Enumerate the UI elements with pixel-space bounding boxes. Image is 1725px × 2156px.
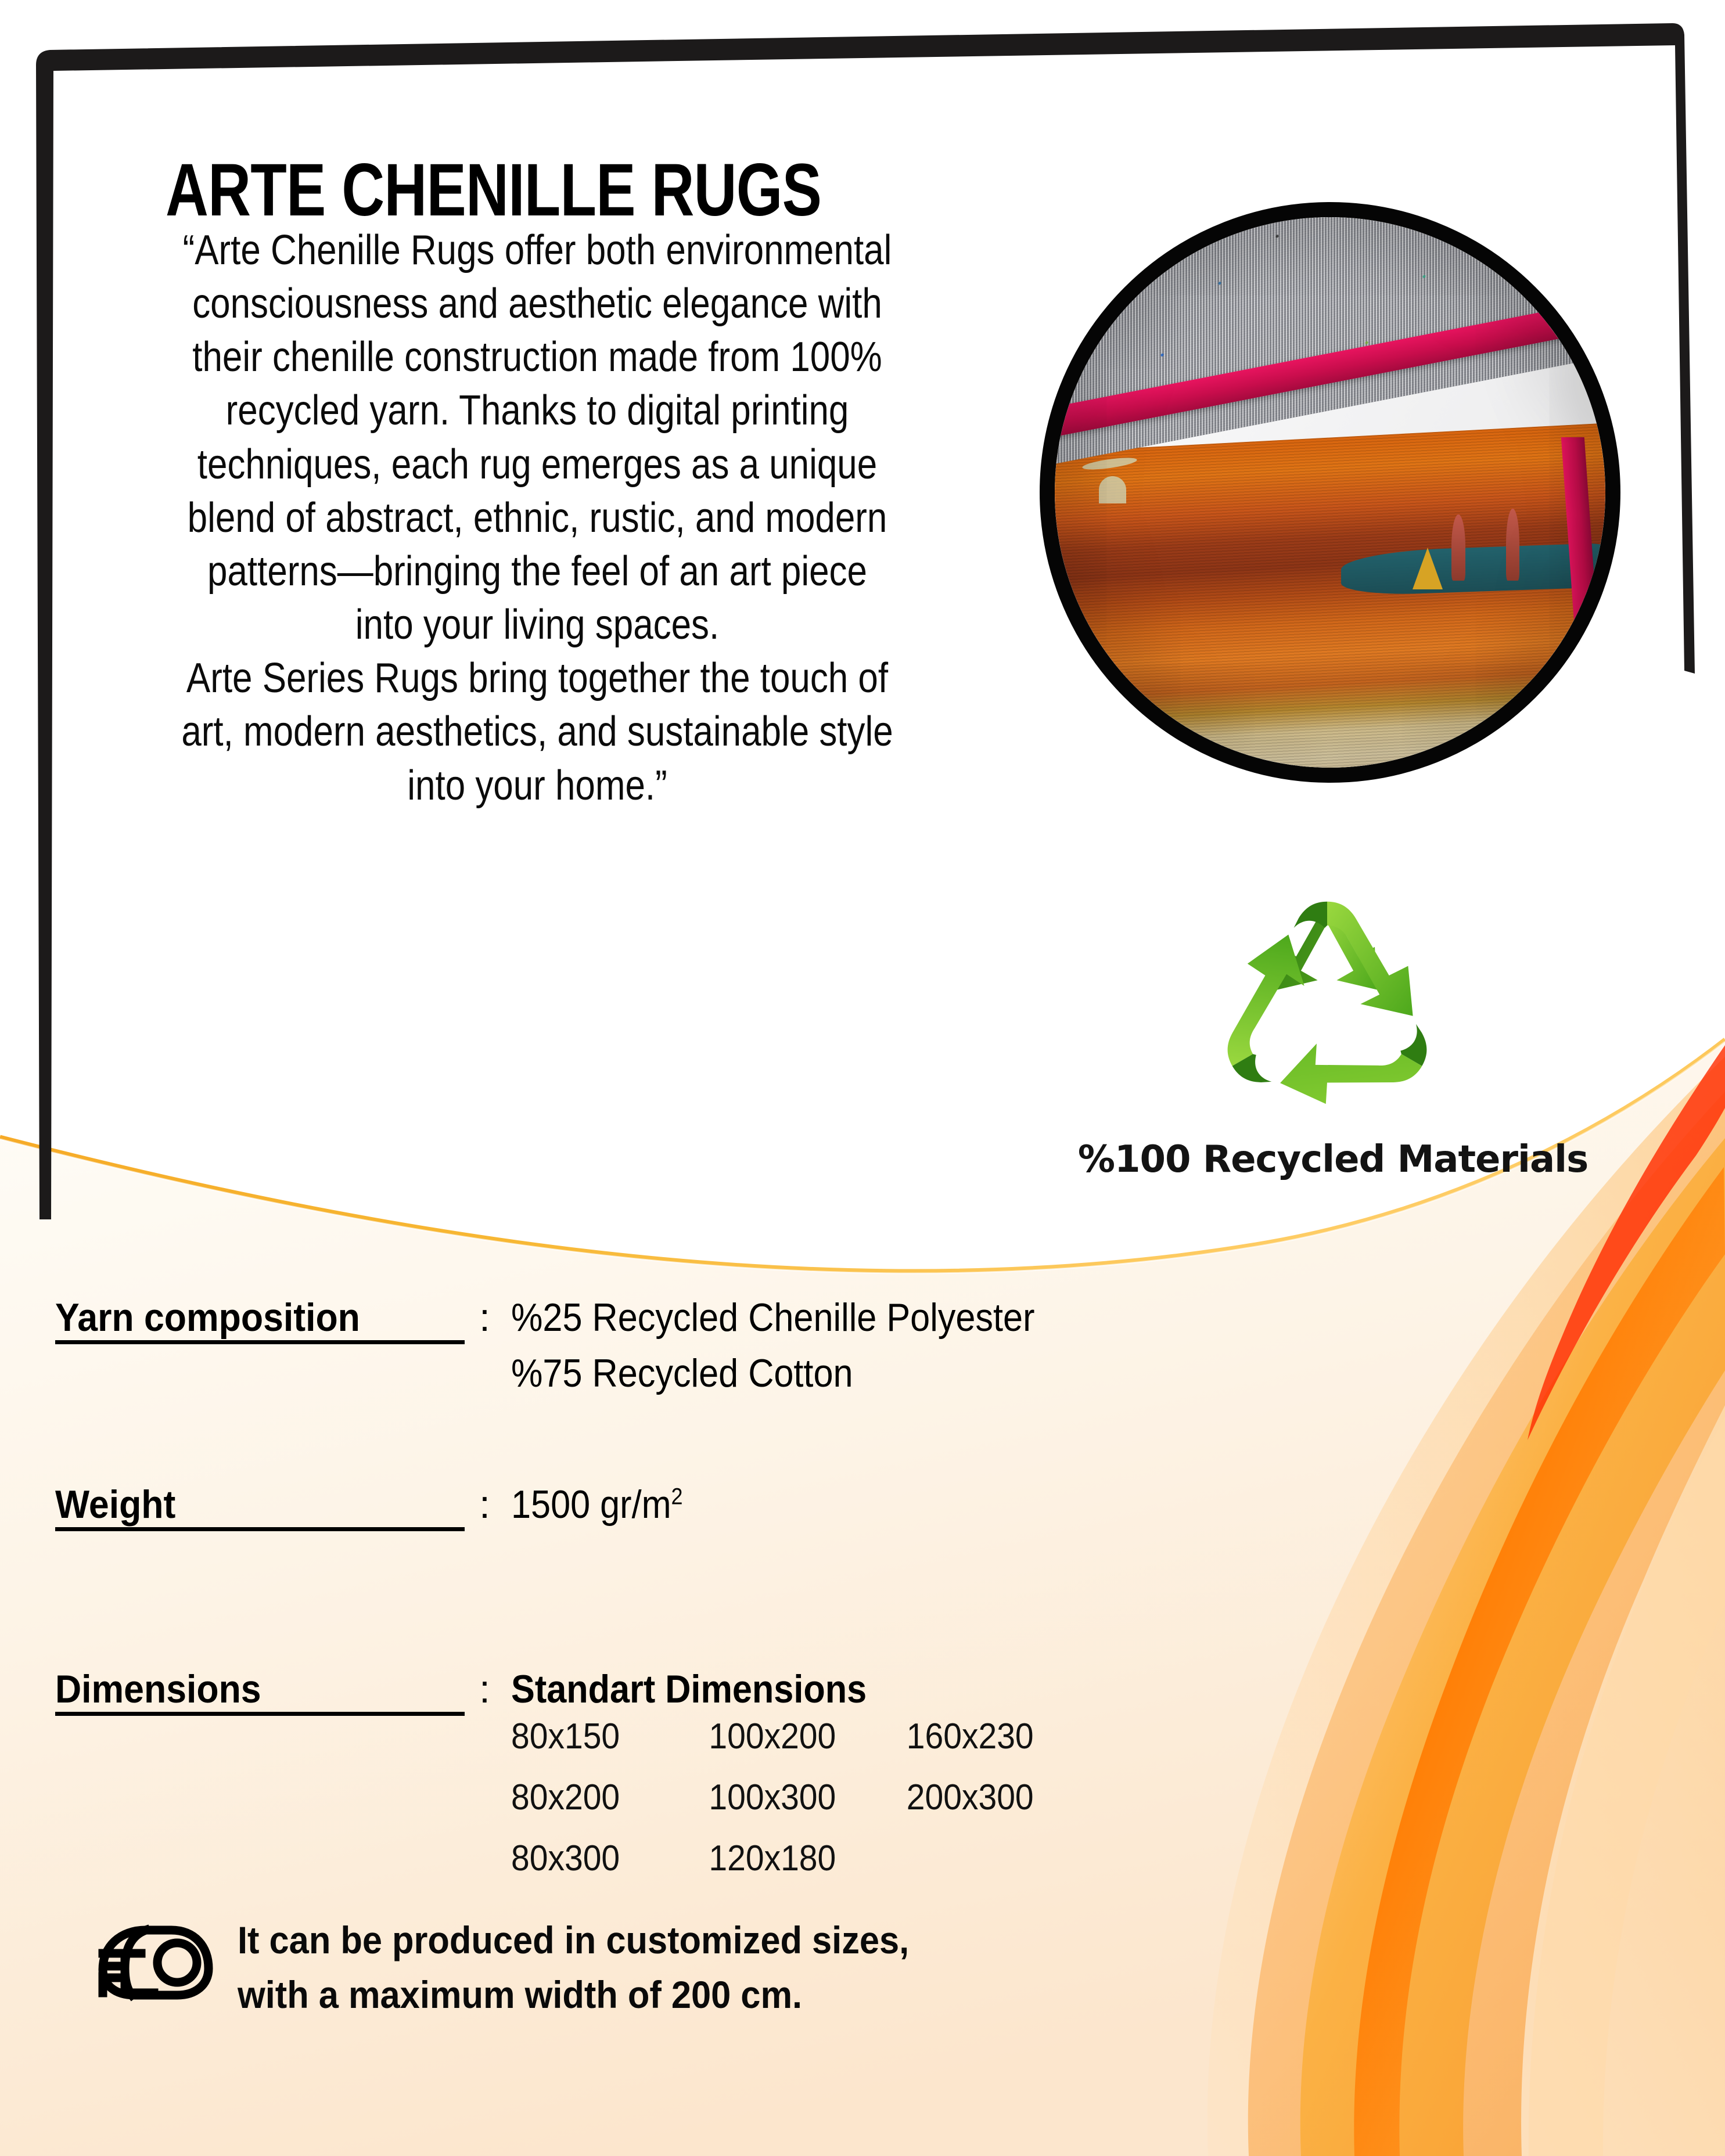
intro-paragraph: “Arte Chenille Rugs offer both environme…: [123, 224, 952, 812]
spec-label-dimensions: Dimensions: [55, 1667, 261, 1712]
tape-measure-icon: [90, 1919, 218, 2017]
product-photo-image: [1055, 217, 1605, 768]
page-title: ARTE CHENILLE RUGS: [166, 153, 821, 228]
intro-line: patterns—bringing the feel of an art pie…: [123, 545, 952, 598]
spec-separator: :: [479, 1482, 490, 1527]
spec-value-weight-exponent: 2: [671, 1484, 683, 1509]
dimension-cell: 100x300: [709, 1777, 906, 1818]
dimension-cell: 80x200: [511, 1777, 709, 1818]
intro-line: consciousness and aesthetic elegance wit…: [123, 277, 952, 330]
spec-underline: [55, 1340, 465, 1344]
intro-line: techniques, each rug emerges as a unique: [123, 438, 952, 491]
dimension-cell: 160x230: [907, 1716, 1104, 1757]
intro-line: art, modern aesthetics, and sustainable …: [123, 705, 952, 758]
intro-line: their chenille construction made from 10…: [123, 330, 952, 384]
spec-value-weight: 1500 gr/m2: [511, 1482, 683, 1527]
dimension-cell: 120x180: [709, 1838, 906, 1879]
product-photo-circle: [1040, 202, 1620, 783]
dimension-row: 80x150 100x200 160x230: [511, 1716, 1104, 1757]
spec-underline: [55, 1712, 465, 1716]
intro-line: “Arte Chenille Rugs offer both environme…: [123, 224, 952, 277]
spec-value-dimensions-heading: Standart Dimensions: [511, 1667, 867, 1712]
dimension-cell: 200x300: [907, 1777, 1104, 1818]
custom-note-line-1: It can be produced in customized sizes,: [238, 1913, 909, 1968]
intro-line: into your living spaces.: [123, 598, 952, 652]
dimension-cell: [907, 1838, 1104, 1879]
spec-separator: :: [479, 1295, 490, 1340]
spec-label-yarn-composition: Yarn composition: [55, 1295, 360, 1340]
dimension-cell: 100x200: [709, 1716, 906, 1757]
spec-value-yarn-1: %25 Recycled Chenille Polyester: [511, 1295, 1034, 1340]
custom-note-line-2: with a maximum width of 200 cm.: [238, 1968, 909, 2022]
dimension-cell: 80x300: [511, 1838, 709, 1879]
recycled-materials-label: %100 Recycled Materials: [1040, 1138, 1626, 1181]
dimension-size-grid: 80x150 100x200 160x230 80x200 100x300 20…: [511, 1716, 1104, 1899]
spec-underline: [55, 1527, 465, 1531]
dimension-cell: 80x150: [511, 1716, 709, 1757]
intro-line: into your home.”: [123, 759, 952, 812]
spec-label-weight: Weight: [55, 1482, 175, 1527]
intro-line: Arte Series Rugs bring together the touc…: [123, 652, 952, 705]
spec-value-weight-text: 1500 gr/m: [511, 1482, 671, 1527]
recycle-icon: [1208, 883, 1446, 1121]
dimension-row: 80x300 120x180: [511, 1838, 1104, 1879]
custom-size-note: It can be produced in customized sizes, …: [90, 1913, 959, 2022]
intro-line: recycled yarn. Thanks to digital printin…: [123, 384, 952, 437]
spec-separator: :: [479, 1667, 490, 1712]
custom-size-text: It can be produced in customized sizes, …: [238, 1913, 909, 2022]
intro-line: blend of abstract, ethnic, rustic, and m…: [123, 491, 952, 545]
dimension-row: 80x200 100x300 200x300: [511, 1777, 1104, 1818]
spec-value-yarn-2: %75 Recycled Cotton: [511, 1351, 853, 1396]
